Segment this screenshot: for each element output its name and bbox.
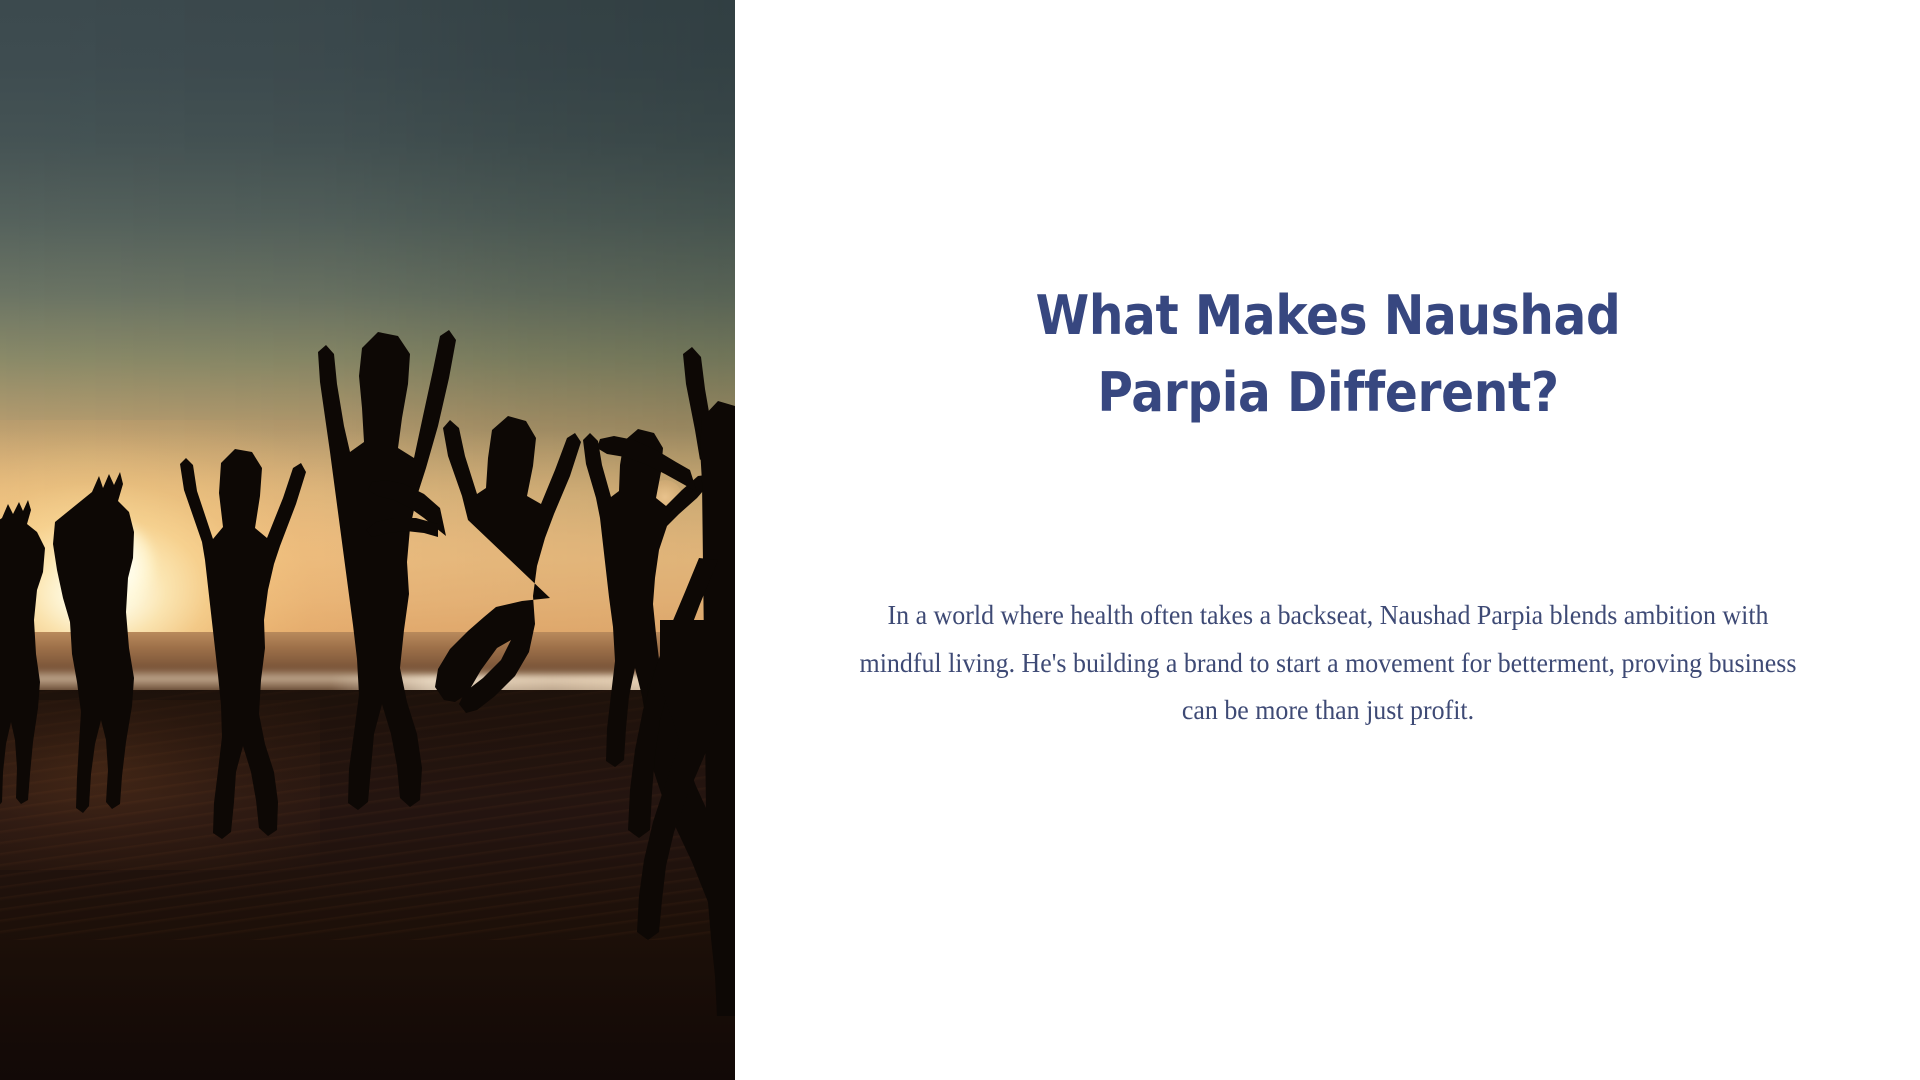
beach-sunset-photo — [0, 0, 735, 1080]
slide-root: What Makes Naushad Parpia Different? In … — [0, 0, 1920, 1080]
jumping-people-silhouettes — [0, 0, 735, 1080]
page-title: What Makes Naushad Parpia Different? — [932, 278, 1724, 431]
body-paragraph: In a world where health often takes a ba… — [852, 592, 1802, 735]
content-panel: What Makes Naushad Parpia Different? In … — [735, 0, 1920, 1080]
